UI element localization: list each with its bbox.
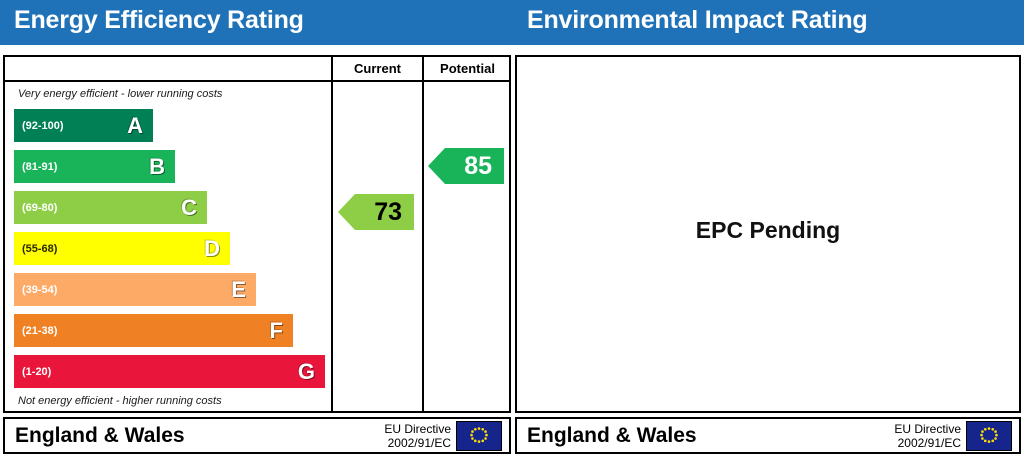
footer-region-label: England & Wales [527, 424, 697, 448]
band-letter-label: B [149, 154, 165, 180]
band-letter-label: D [204, 236, 220, 262]
column-header-row: Current Potential [5, 57, 509, 82]
footer-environmental: England & Wales EU Directive 2002/91/EC [515, 417, 1021, 454]
directive-line-1: EU Directive [894, 422, 961, 436]
epc-rating-graphic: Energy Efficiency Rating Environmental I… [0, 0, 1024, 457]
efficiency-note-top: Very energy efficient - lower running co… [18, 88, 222, 100]
band-letter-label: F [270, 318, 283, 344]
rating-band-c: (69-80)C [14, 191, 207, 224]
column-divider-potential [422, 82, 424, 411]
environmental-impact-title: Environmental Impact Rating [527, 6, 868, 35]
rating-band-f: (21-38)F [14, 314, 293, 347]
title-bar: Energy Efficiency Rating Environmental I… [0, 0, 1024, 45]
rating-band-d: (55-68)D [14, 232, 230, 265]
band-letter-label: G [298, 359, 315, 385]
band-range-label: (69-80) [22, 202, 57, 214]
column-header-current: Current [331, 57, 422, 80]
efficiency-note-bottom: Not energy efficient - higher running co… [18, 395, 222, 407]
band-range-label: (39-54) [22, 284, 57, 296]
column-header-potential: Potential [422, 57, 511, 80]
directive-line-2: 2002/91/EC [384, 436, 451, 450]
eu-flag-icon [966, 421, 1012, 451]
band-letter-label: E [231, 277, 246, 303]
current-rating-marker: 73 [338, 194, 414, 230]
eu-flag-icon [456, 421, 502, 451]
column-divider-current [331, 82, 333, 411]
directive-line-1: EU Directive [384, 422, 451, 436]
footer-directive: EU Directive 2002/91/EC [894, 422, 961, 450]
environmental-impact-panel: EPC Pending [515, 55, 1021, 413]
footer-energy: England & Wales EU Directive 2002/91/EC [3, 417, 511, 454]
rating-band-b: (81-91)B [14, 150, 175, 183]
rating-band-a: (92-100)A [14, 109, 153, 142]
band-range-label: (81-91) [22, 161, 57, 173]
band-letter-label: C [181, 195, 197, 221]
directive-line-2: 2002/91/EC [894, 436, 961, 450]
energy-efficiency-title: Energy Efficiency Rating [14, 6, 304, 35]
footer-region-label: England & Wales [15, 424, 185, 448]
epc-pending-message: EPC Pending [517, 217, 1019, 244]
energy-efficiency-panel: Current Potential Very energy efficient … [3, 55, 511, 413]
band-range-label: (21-38) [22, 325, 57, 337]
footer-directive: EU Directive 2002/91/EC [384, 422, 451, 450]
band-range-label: (55-68) [22, 243, 57, 255]
band-range-label: (1-20) [22, 366, 51, 378]
band-letter-label: A [127, 113, 143, 139]
rating-band-g: (1-20)G [14, 355, 325, 388]
band-range-label: (92-100) [22, 120, 64, 132]
rating-band-e: (39-54)E [14, 273, 256, 306]
potential-rating-marker: 85 [428, 148, 504, 184]
